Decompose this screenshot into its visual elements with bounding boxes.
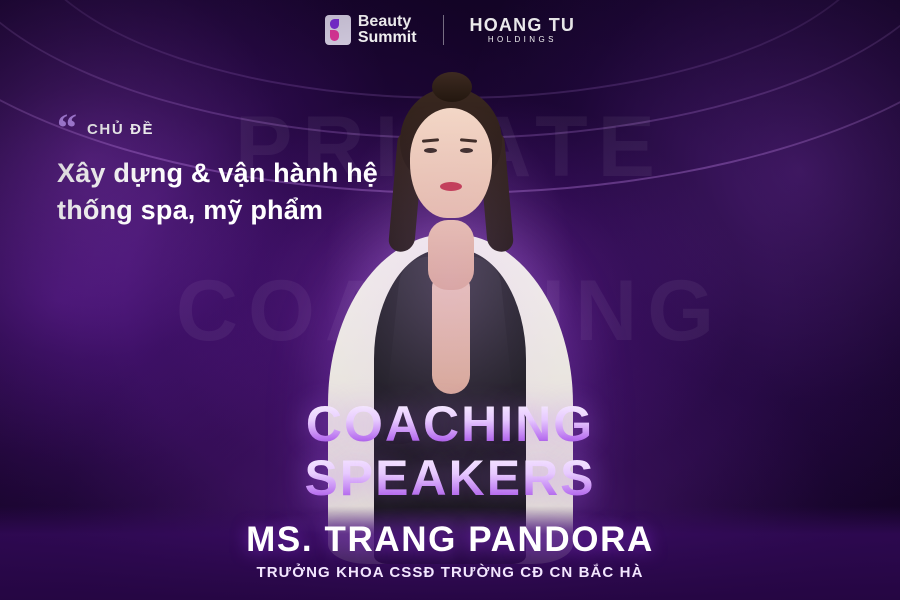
topic-label: CHỦ ĐỀ	[87, 121, 154, 138]
headline-line-2: SPEAKERS	[0, 450, 900, 506]
quote-icon: “	[57, 115, 77, 141]
headline-block: COACHING SPEAKERS	[0, 398, 900, 506]
headline-line-1: COACHING	[0, 398, 900, 450]
speaker-name: MS. TRANG PANDORA	[0, 520, 900, 560]
speaker-bar: MS. TRANG PANDORA TRƯỞNG KHOA CSSĐ TRƯỜN…	[0, 506, 900, 600]
poster-canvas: PRIVATE COACHING Beauty Summit HOANG TU …	[0, 0, 900, 600]
speaker-role: TRƯỞNG KHOA CSSĐ TRƯỜNG CĐ CN BẮC HÀ	[0, 564, 900, 581]
